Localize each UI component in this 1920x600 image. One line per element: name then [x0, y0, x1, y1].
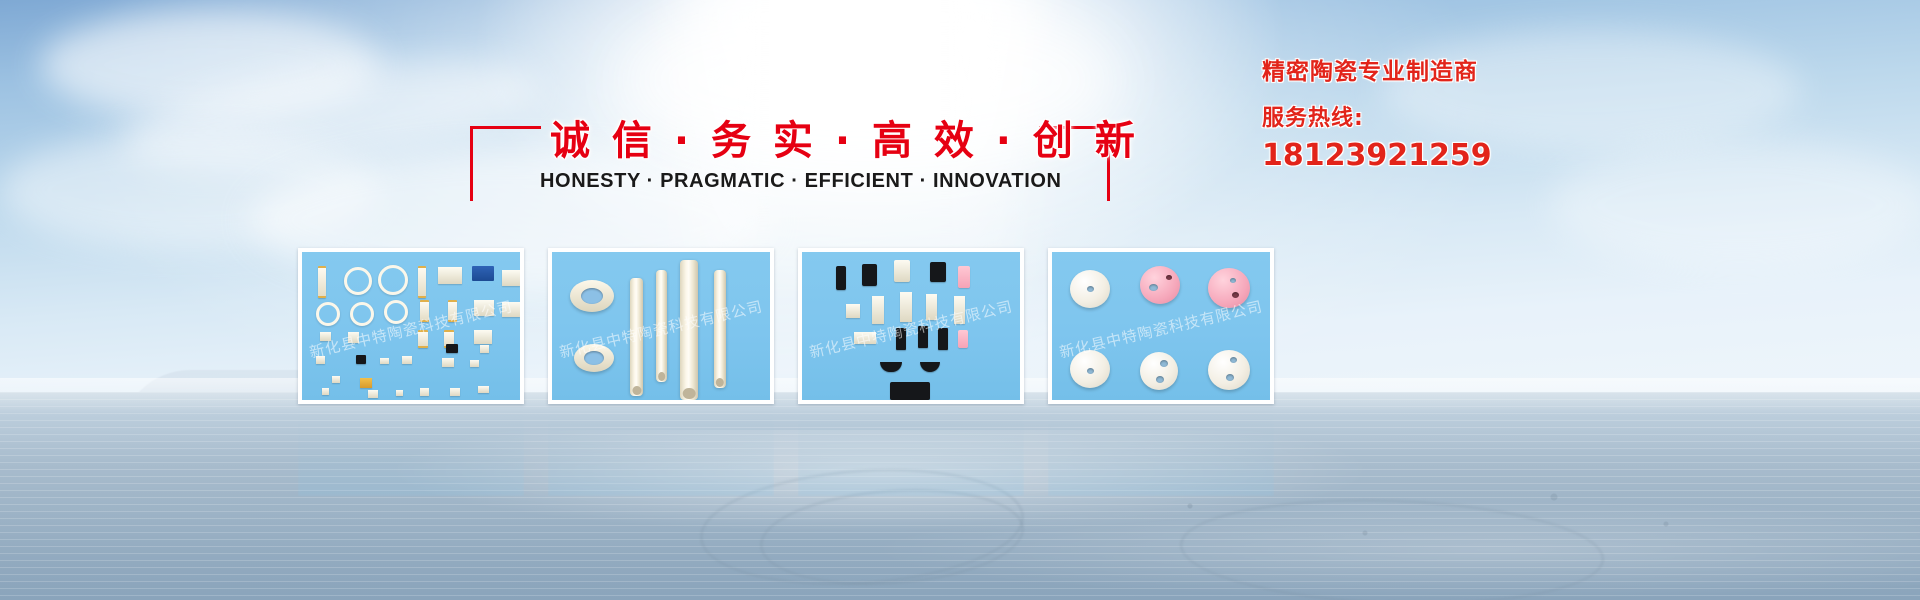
product-part [402, 356, 412, 364]
product-part [318, 266, 326, 298]
panel-reflection [798, 404, 1024, 496]
product-part [332, 376, 340, 383]
product-part [862, 264, 877, 286]
product-part [630, 278, 643, 396]
product-part [872, 296, 884, 324]
contact-block: 精密陶瓷专业制造商 服务热线: 18123921259 [1262, 52, 1622, 173]
panel-image: 新化县中特陶瓷科技有限公司 [802, 252, 1020, 400]
product-panel-blocks[interactable]: 新化县中特陶瓷科技有限公司 [798, 248, 1024, 404]
product-part [926, 294, 937, 320]
product-part [438, 267, 462, 284]
product-part [894, 260, 910, 282]
bracket-left-icon [470, 126, 541, 201]
product-part [920, 362, 940, 372]
product-part [836, 266, 846, 290]
product-panel-smd-components[interactable]: 新化县中特陶瓷科技有限公司 [298, 248, 524, 404]
slogan-english: HONESTY · PRAGMATIC · EFFICIENT · INNOVA… [540, 170, 1040, 193]
product-part [320, 332, 331, 341]
product-panel-discs[interactable]: 新化县中特陶瓷科技有限公司 [1048, 248, 1274, 404]
product-part [846, 304, 860, 318]
product-part [930, 262, 946, 282]
product-part [1070, 350, 1110, 388]
product-part [368, 390, 378, 398]
product-part [316, 356, 325, 364]
product-part [918, 326, 928, 348]
product-part [420, 300, 429, 322]
product-part [344, 267, 372, 295]
company-tagline: 精密陶瓷专业制造商 [1262, 52, 1622, 86]
product-part [384, 300, 408, 324]
product-part [442, 358, 454, 367]
product-part [350, 302, 374, 326]
product-part [1140, 352, 1178, 390]
product-part [1208, 268, 1250, 308]
product-part [472, 266, 494, 281]
panel-reflection [548, 404, 774, 496]
product-part [1208, 350, 1250, 390]
product-part [570, 280, 614, 312]
product-part [1070, 270, 1110, 308]
product-part [474, 300, 494, 316]
product-part [890, 382, 930, 400]
product-panel-tubes[interactable]: 新化县中特陶瓷科技有限公司 [548, 248, 774, 404]
hotline-label: 服务热线: [1262, 100, 1622, 132]
hero-banner: 诚 信 · 务 实 · 高 效 · 创 新 HONESTY · PRAGMATI… [0, 0, 1920, 600]
panel-image: 新化县中特陶瓷科技有限公司 [302, 252, 520, 400]
product-part [896, 328, 906, 350]
product-part [656, 270, 667, 382]
product-part [348, 332, 359, 343]
product-part [574, 344, 614, 372]
product-part [954, 296, 965, 324]
product-part [474, 330, 492, 344]
panel-image: 新化县中特陶瓷科技有限公司 [1052, 252, 1270, 400]
product-panel-row: 新化县中特陶瓷科技有限公司 新化县中特陶瓷科技有限公司 [298, 248, 1578, 408]
product-part [470, 360, 479, 367]
product-part [420, 388, 429, 396]
product-part [446, 344, 458, 353]
product-part [418, 266, 426, 298]
product-part [480, 345, 489, 353]
slogan-block: 诚 信 · 务 实 · 高 效 · 创 新 HONESTY · PRAGMATI… [470, 108, 1110, 208]
product-part [448, 300, 457, 322]
product-part [938, 328, 948, 350]
product-part [380, 358, 389, 364]
product-part [450, 388, 460, 396]
product-part [714, 270, 726, 388]
product-part [322, 388, 329, 395]
product-part [316, 302, 340, 326]
product-part [958, 330, 968, 348]
product-part [378, 265, 408, 295]
panel-reflection [298, 404, 524, 496]
product-part [418, 330, 428, 348]
product-part [680, 260, 698, 400]
hotline-number[interactable]: 18123921259 [1262, 138, 1622, 173]
product-part [958, 266, 970, 288]
product-part [900, 292, 912, 322]
product-part [396, 390, 403, 396]
product-part [478, 386, 489, 393]
product-part [1140, 266, 1180, 304]
product-part [356, 355, 366, 364]
panel-image: 新化县中特陶瓷科技有限公司 [552, 252, 770, 400]
slogan-chinese: 诚 信 · 务 实 · 高 效 · 创 新 [550, 108, 1030, 166]
panel-reflection [1048, 404, 1274, 496]
product-part [854, 332, 876, 344]
product-part [880, 362, 902, 372]
product-part [502, 302, 520, 317]
product-part [360, 378, 372, 388]
product-part [502, 270, 520, 286]
